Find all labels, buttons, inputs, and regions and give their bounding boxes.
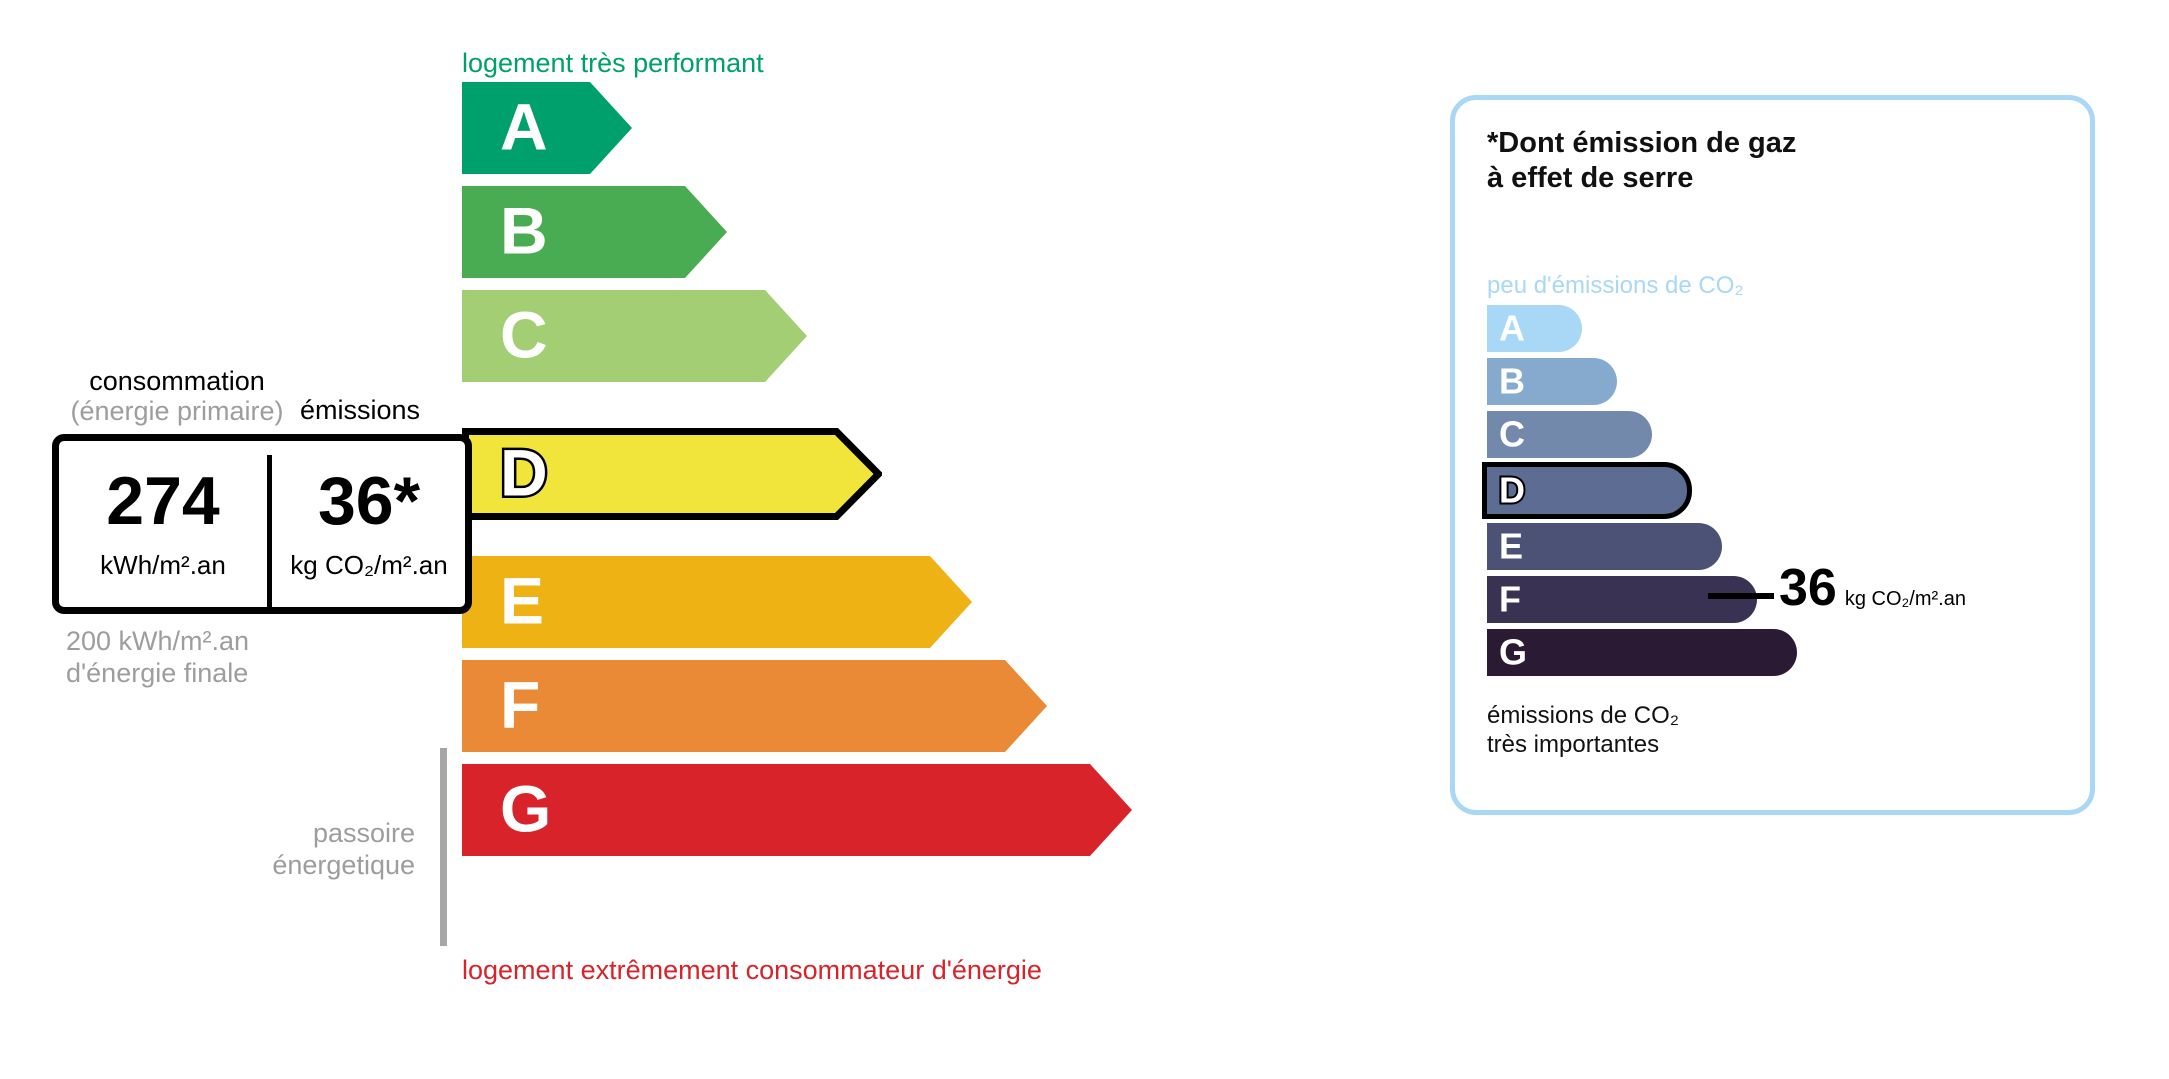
- passoire-divider: [440, 748, 447, 946]
- co2-panel: *Dont émission de gaz à effet de serre p…: [1450, 95, 2095, 815]
- emissions-label: émissions: [300, 395, 420, 426]
- final-energy-label: 200 kWh/m².an d'énergie finale: [66, 626, 249, 690]
- energy-top-caption: logement très performant: [462, 48, 764, 79]
- co2-value-cell: 36* kg CO₂/m².an: [271, 441, 467, 607]
- co2-bottom-line-1: émissions de CO₂: [1487, 702, 1679, 729]
- co2-bar-b: B: [1487, 358, 1617, 405]
- co2-leader-line: [1708, 593, 1774, 599]
- passoire-line-2: énergetique: [272, 850, 415, 880]
- energy-bar-e: E: [462, 556, 972, 648]
- energy-bar-letter-g: G: [500, 776, 551, 842]
- energy-value-cell: 274 kWh/m².an: [59, 441, 267, 607]
- co2-bar-letter-e: E: [1499, 528, 1523, 564]
- co2-bar-letter-g: G: [1499, 634, 1527, 670]
- energy-bar-g: G: [462, 764, 1132, 856]
- co2-bottom-caption: émissions de CO₂ très importantes: [1487, 702, 1679, 760]
- co2-bar-letter-f: F: [1499, 581, 1521, 617]
- co2-bar-d: D: [1482, 462, 1692, 519]
- arrow-shape-g: [462, 764, 1132, 856]
- energy-bar-letter-a: A: [500, 94, 548, 160]
- energy-bar-letter-d: D: [500, 440, 548, 506]
- energy-value: 274: [59, 467, 267, 535]
- co2-value: 36*: [271, 467, 467, 535]
- consommation-text: consommation: [89, 366, 265, 396]
- energy-bar-d: D: [462, 428, 882, 520]
- co2-bar-letter-a: A: [1499, 310, 1525, 346]
- co2-bottom-line-2: très importantes: [1487, 731, 1659, 758]
- energy-bar-letter-e: E: [500, 568, 544, 634]
- co2-bar-g: G: [1487, 629, 1797, 676]
- energy-bar-letter-b: B: [500, 198, 548, 264]
- arrow-shape-f: [462, 660, 1047, 752]
- energy-bar-f: F: [462, 660, 1047, 752]
- co2-bar-c: C: [1487, 411, 1652, 458]
- energy-bar-b: B: [462, 186, 727, 278]
- passoire-line-1: passoire: [313, 818, 415, 848]
- value-readout-box: 274 kWh/m².an 36* kg CO₂/m².an: [52, 434, 472, 614]
- final-energy-line-2: d'énergie finale: [66, 658, 248, 688]
- consommation-label: consommation (énergie primaire): [52, 366, 302, 426]
- final-energy-line-1: 200 kWh/m².an: [66, 626, 249, 656]
- co2-bar-a: A: [1487, 305, 1582, 352]
- co2-title-line-1: *Dont émission de gaz: [1487, 127, 1796, 159]
- passoire-label: passoire énergetique: [190, 818, 415, 882]
- co2-panel-title: *Dont émission de gaz à effet de serre: [1487, 126, 1796, 196]
- energy-bar-c: C: [462, 290, 807, 382]
- co2-title-line-2: à effet de serre: [1487, 162, 1693, 194]
- co2-bar-e: E: [1487, 523, 1722, 570]
- energy-bar-a: A: [462, 82, 632, 174]
- dpe-diagram: logement très performant ABCDEFG passoir…: [0, 0, 2169, 1079]
- energy-bottom-caption: logement extrêmement consommateur d'éner…: [462, 955, 1042, 986]
- energy-bar-letter-c: C: [500, 302, 548, 368]
- energy-unit: kWh/m².an: [59, 551, 267, 580]
- energy-bar-letter-f: F: [500, 672, 540, 738]
- co2-bar-letter-d: D: [1499, 472, 1525, 508]
- co2-bar-letter-b: B: [1499, 363, 1525, 399]
- co2-unit: kg CO₂/m².an: [271, 551, 467, 580]
- co2-top-caption: peu d'émissions de CO₂: [1487, 272, 1744, 300]
- energy-performance-panel: logement très performant ABCDEFG passoir…: [0, 0, 1400, 1079]
- co2-bar-f: F: [1487, 576, 1757, 623]
- co2-bar-letter-c: C: [1499, 416, 1525, 452]
- co2-callout-value: 36: [1779, 559, 1837, 617]
- co2-callout-unit: kg CO₂/m².an: [1845, 588, 1966, 610]
- energie-primaire-text: (énergie primaire): [52, 396, 302, 426]
- co2-callout: 36kg CO₂/m².an: [1779, 562, 1966, 614]
